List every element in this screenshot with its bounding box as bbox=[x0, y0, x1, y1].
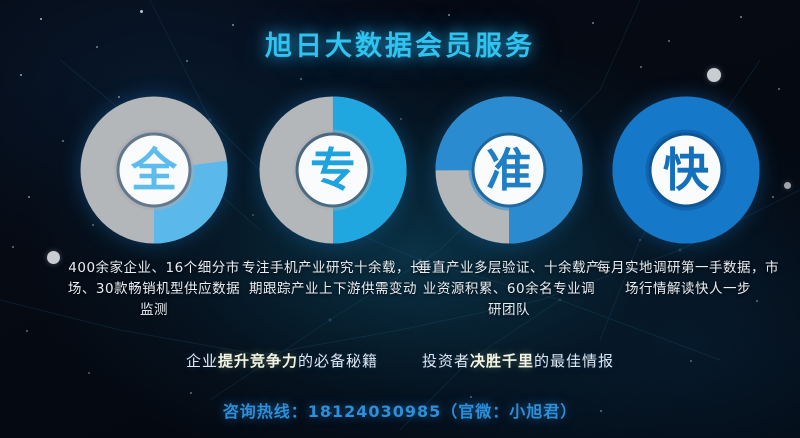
hotline-label: 咨询热线： bbox=[223, 402, 308, 421]
tagline-2-prefix: 投资者 bbox=[422, 352, 470, 370]
tagline-1-suffix: 的必备秘籍 bbox=[298, 352, 378, 370]
page-title: 旭日大数据会员服务 bbox=[0, 24, 800, 63]
tagline-2-strong: 决胜千里 bbox=[470, 352, 534, 370]
tagline-2: 投资者决胜千里的最佳情报 bbox=[422, 350, 614, 371]
pillar-captions-row: 400余家企业、16个细分市场、30款畅销机型供应数据监测 专注手机产业研究十余… bbox=[0, 258, 800, 328]
taglines-row: 企业提升竞争力的必备秘籍投资者决胜千里的最佳情报 bbox=[0, 350, 800, 371]
accent-dot-top-right bbox=[707, 68, 721, 82]
tagline-1-prefix: 企业 bbox=[186, 352, 218, 370]
pillar-ring-3: 准 bbox=[434, 95, 584, 245]
pillar-glyph-1: 全 bbox=[79, 95, 229, 245]
pillar-glyph-4: 快 bbox=[611, 95, 761, 245]
pillar-caption-1: 400余家企业、16个细分市场、30款畅销机型供应数据监测 bbox=[61, 258, 247, 321]
pillar-glyph-3: 准 bbox=[434, 95, 584, 245]
pillar-caption-3: 垂直产业多层验证、十余载产业资源积累、60余名专业调研团队 bbox=[416, 258, 602, 321]
pillar-ring-1: 全 bbox=[79, 95, 229, 245]
hotline-bar: 咨询热线：18124030985（官微：小旭君） bbox=[0, 398, 800, 422]
pillar-ring-2: 专 bbox=[258, 95, 408, 245]
wechat-handle: （官微：小旭君） bbox=[441, 402, 577, 421]
pillar-glyph-2: 专 bbox=[258, 95, 408, 245]
poster-canvas: 旭日大数据会员服务 全 专 bbox=[0, 0, 800, 438]
tagline-1-strong: 提升竞争力 bbox=[218, 352, 298, 370]
hotline-number[interactable]: 18124030985 bbox=[308, 402, 441, 421]
tagline-2-suffix: 的最佳情报 bbox=[534, 352, 614, 370]
pillar-caption-2: 专注手机产业研究十余载，长期跟踪产业上下游供需变动 bbox=[240, 258, 426, 300]
tagline-1: 企业提升竞争力的必备秘籍 bbox=[186, 350, 378, 371]
pillar-ring-4: 快 bbox=[611, 95, 761, 245]
pillar-caption-4: 每月实地调研第一手数据，市场行情解读快人一步 bbox=[595, 258, 781, 300]
pillar-rings-row: 全 专 准 bbox=[0, 95, 800, 245]
